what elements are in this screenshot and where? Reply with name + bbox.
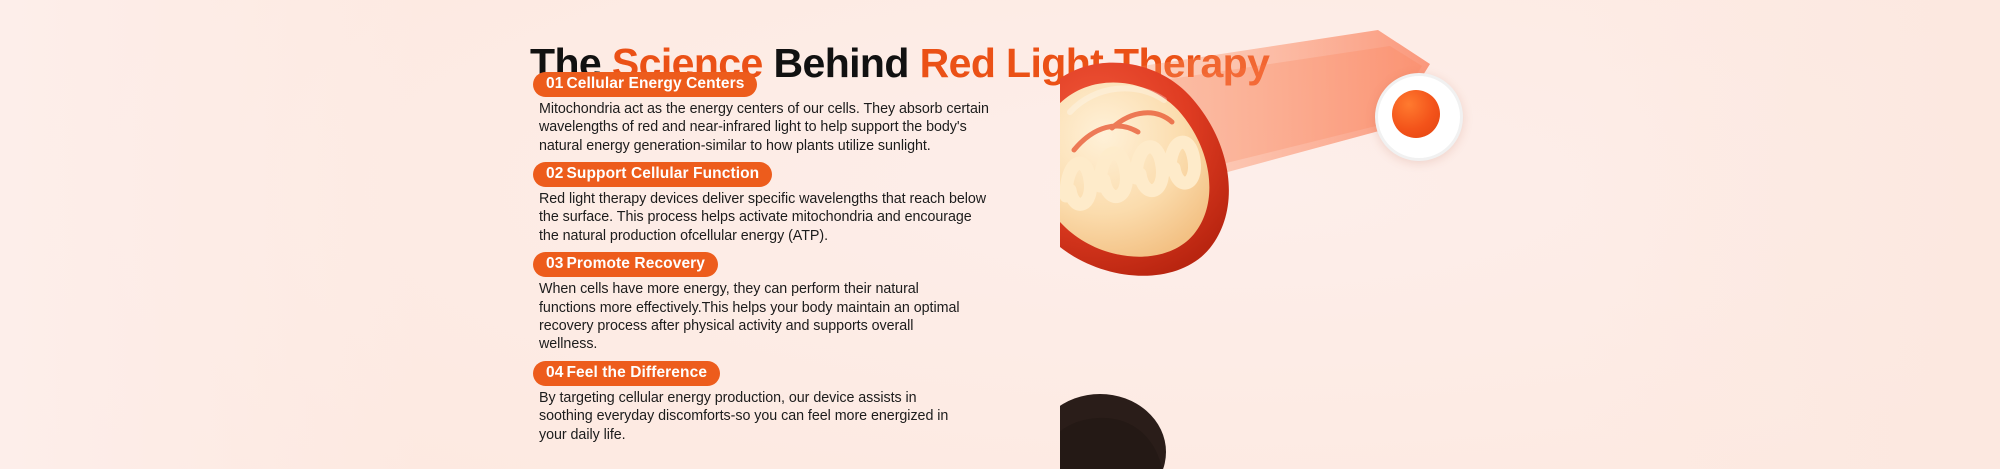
section-03-body: When cells have more energy, they can pe… xyxy=(539,280,969,354)
infographic-canvas: The Science Behind Red Light Therapy 01C… xyxy=(0,0,2000,469)
section-04-number: 04 xyxy=(546,364,563,381)
section-04-badge: 04Feel the Difference xyxy=(533,361,720,386)
section-02-number: 02 xyxy=(546,165,563,182)
section-01-number: 01 xyxy=(546,75,563,92)
section-01-body: Mitochondria act as the energy centers o… xyxy=(539,100,1005,155)
illustration-group xyxy=(1060,0,2000,469)
section-04: 04Feel the Difference By targeting cellu… xyxy=(533,361,1003,444)
section-03-badge: 03Promote Recovery xyxy=(533,252,718,277)
section-02-badge: 02Support Cellular Function xyxy=(533,162,772,187)
section-01-badge: 01Cellular Energy Centers xyxy=(533,72,757,97)
section-02-body: Red light therapy devices deliver specif… xyxy=(539,190,991,245)
section-04-body: By targeting cellular energy production,… xyxy=(539,389,971,444)
sections-column: 01Cellular Energy Centers Mitochondria a… xyxy=(533,72,1003,451)
section-01: 01Cellular Energy Centers Mitochondria a… xyxy=(533,72,1003,155)
section-03-number: 03 xyxy=(546,255,563,272)
section-03: 03Promote Recovery When cells have more … xyxy=(533,252,1003,354)
section-02-heading: Support Cellular Function xyxy=(566,165,759,182)
red-light-device-core-icon xyxy=(1392,90,1440,138)
section-04-heading: Feel the Difference xyxy=(566,364,707,381)
section-01-heading: Cellular Energy Centers xyxy=(566,75,744,92)
section-02: 02Support Cellular Function Red light th… xyxy=(533,162,1003,245)
section-03-heading: Promote Recovery xyxy=(566,255,705,272)
left-edge-fade xyxy=(0,0,420,469)
